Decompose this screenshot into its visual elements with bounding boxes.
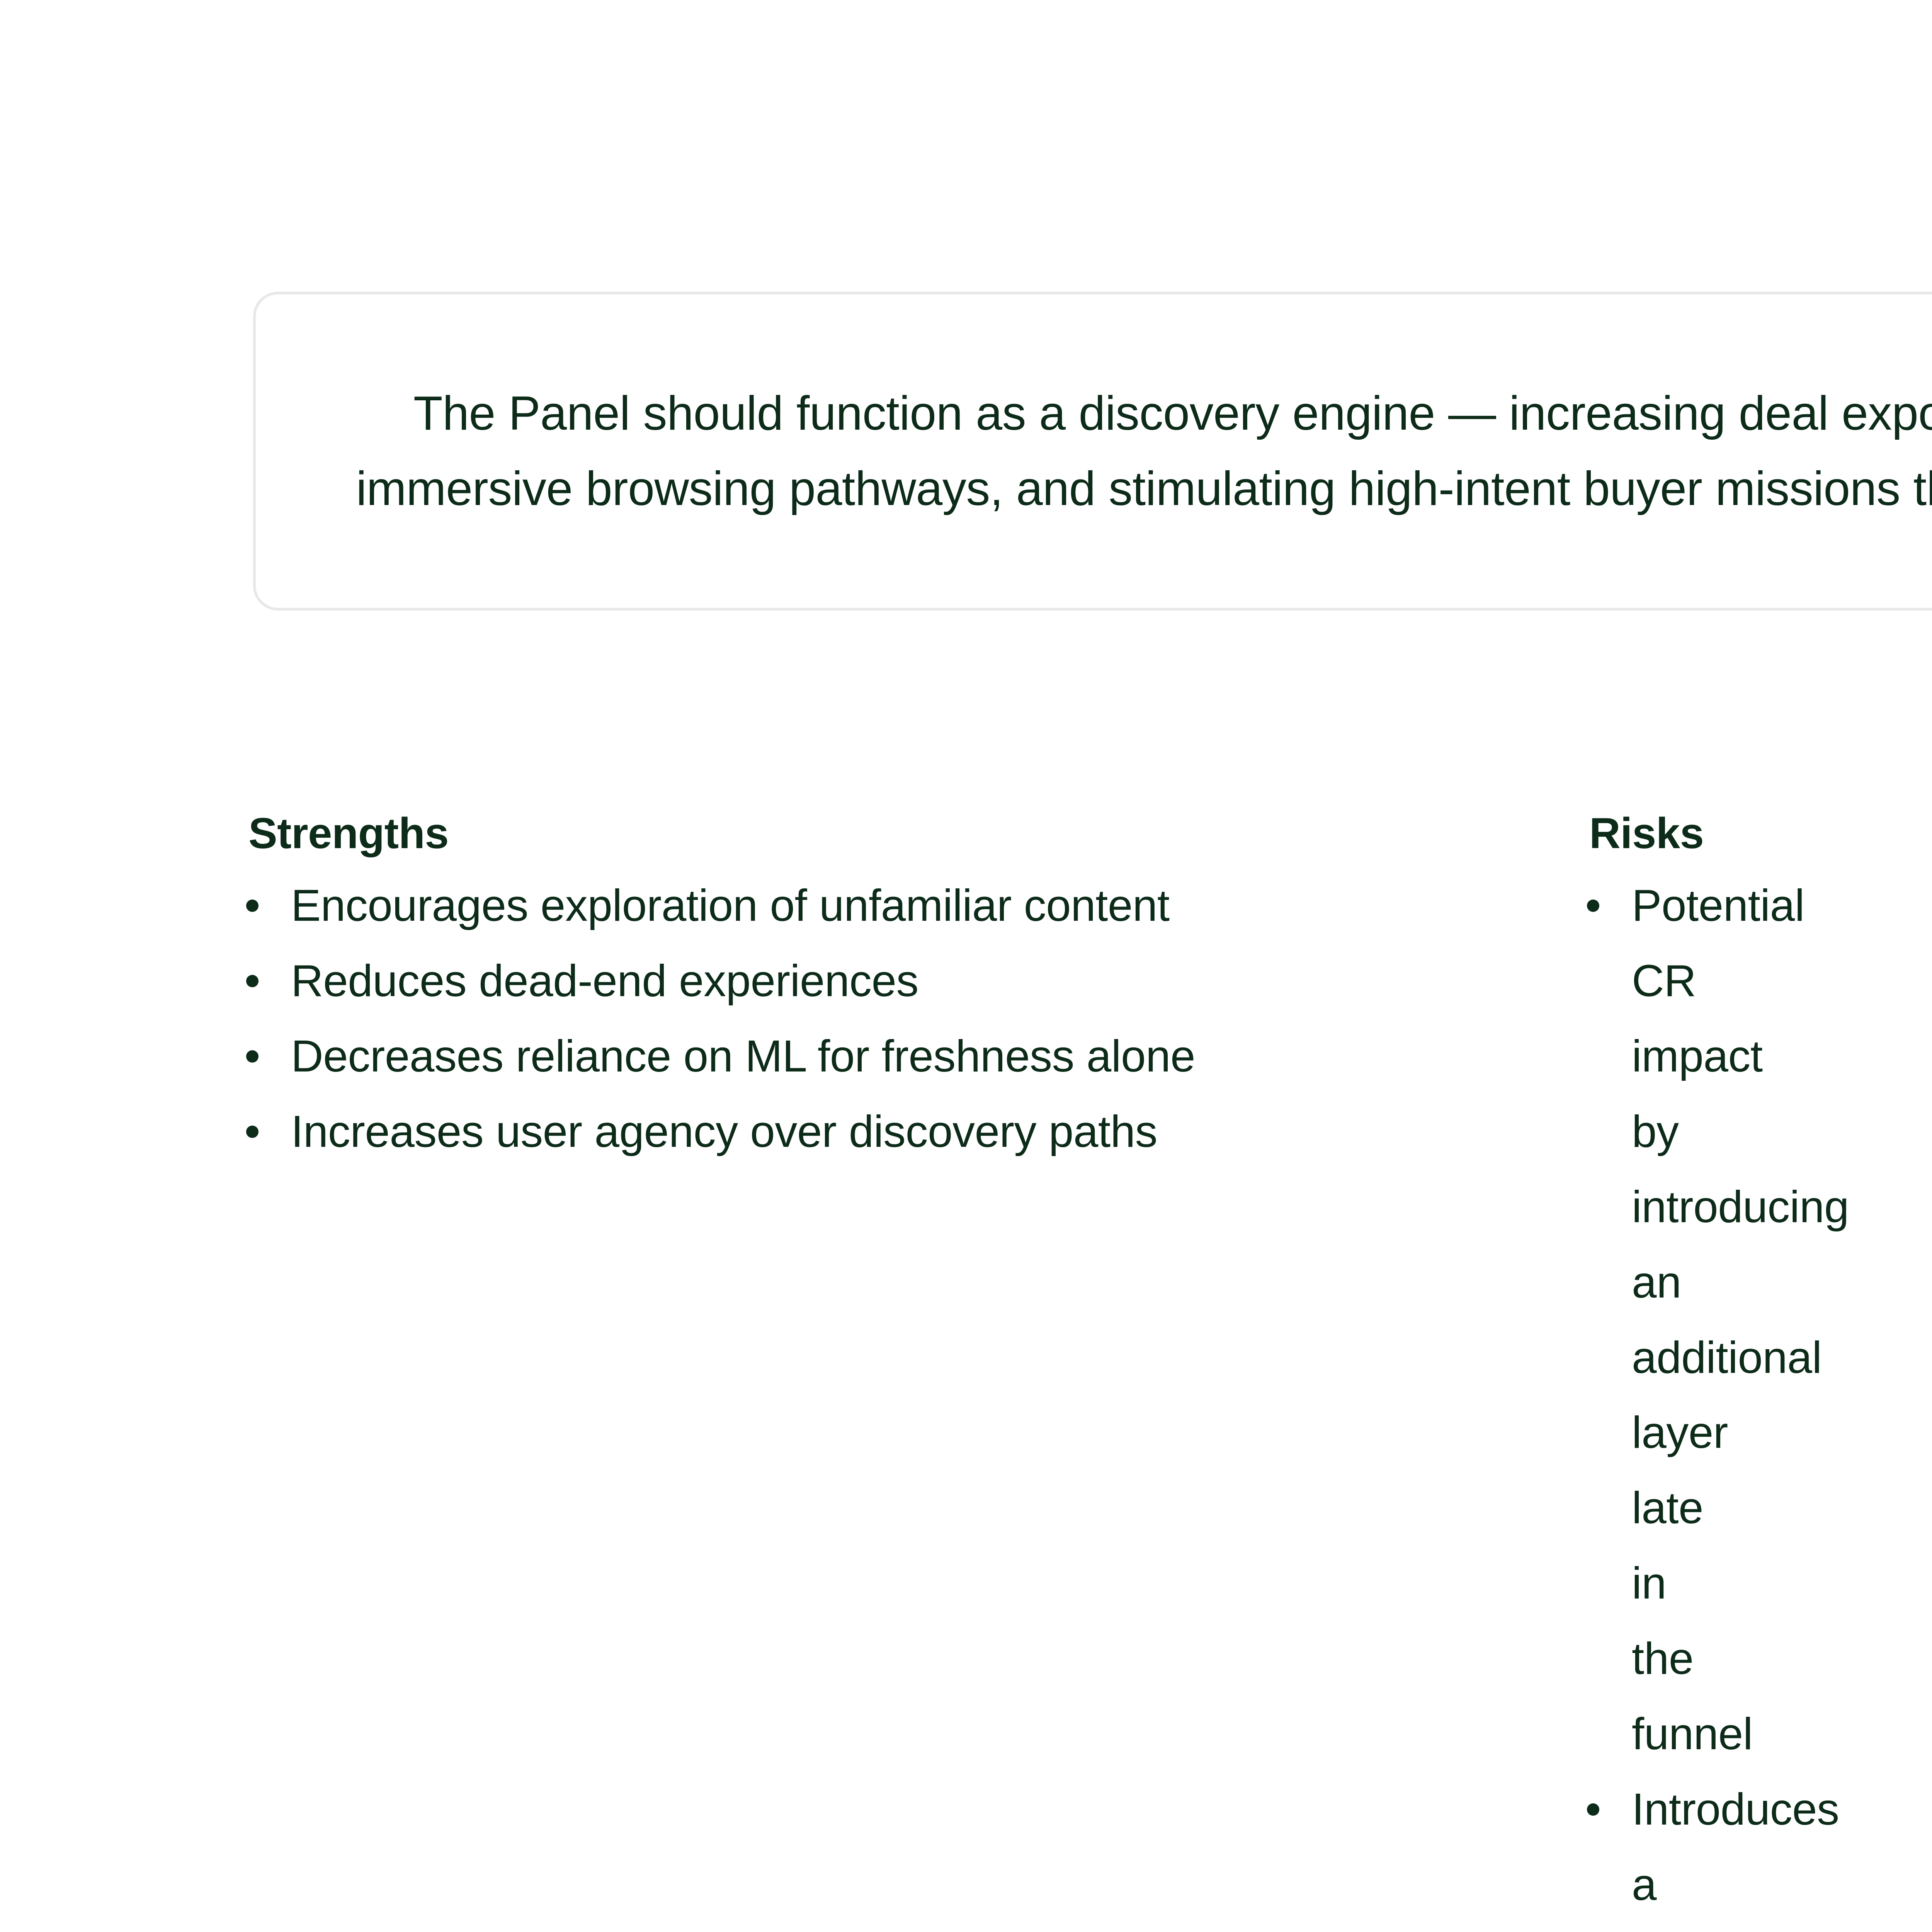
list-item-label: Decreases reliance on ML for freshness a…: [291, 1019, 1318, 1094]
bullet-dot-icon: [246, 1126, 259, 1138]
bullet-dot-icon: [246, 900, 259, 912]
bullet-dot-icon: [246, 1050, 259, 1063]
bullet-dot-icon: [1587, 1803, 1599, 1816]
slide-root: The Panel should function as a discovery…: [0, 0, 1932, 1669]
statement-card: The Panel should function as a discovery…: [253, 292, 1932, 611]
bullet-dot-icon: [1587, 900, 1599, 912]
list-item: Increases user agency over discovery pat…: [241, 1094, 1318, 1169]
list-item: Decreases reliance on ML for freshness a…: [241, 1019, 1318, 1094]
list-item-label: Reduces dead-end experiences: [291, 943, 1318, 1019]
strengths-risks-columns: Strengths Encourages exploration of unfa…: [0, 806, 1932, 1932]
list-item: Potential CR impact by introducing an ad…: [1582, 868, 1632, 1772]
statement-text: The Panel should function as a discovery…: [314, 376, 1932, 526]
list-item-label: Increases user agency over discovery pat…: [291, 1094, 1318, 1169]
strengths-bullet-list: Encourages exploration of unfamiliar con…: [241, 868, 1318, 1169]
list-item: Introduces a new interaction pattern wit…: [1582, 1772, 1632, 1932]
list-item: Encourages exploration of unfamiliar con…: [241, 868, 1318, 943]
bullet-dot-icon: [246, 975, 259, 987]
list-item-label: Encourages exploration of unfamiliar con…: [291, 868, 1318, 943]
list-item: Reduces dead-end experiences: [241, 943, 1318, 1019]
